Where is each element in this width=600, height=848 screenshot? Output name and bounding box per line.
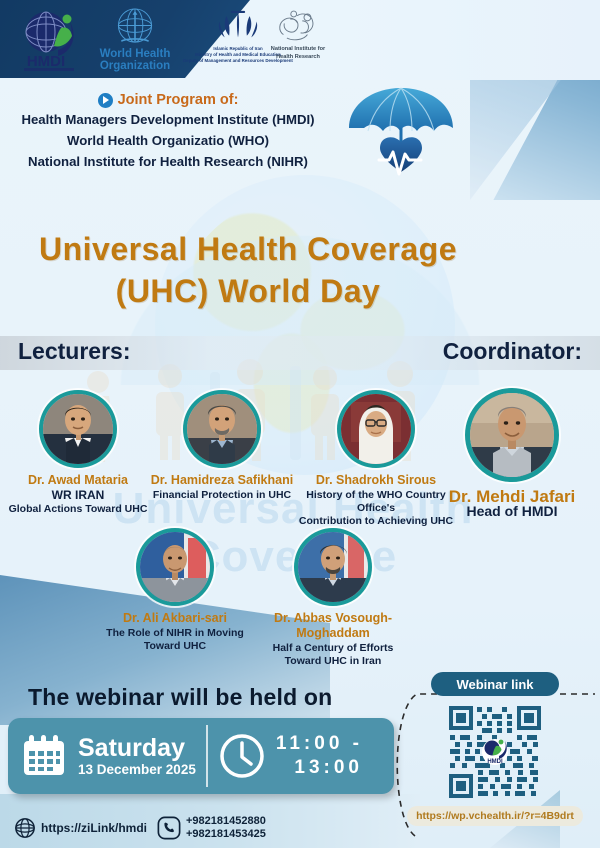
umbrella-heart-icon bbox=[335, 82, 495, 192]
phone-icon bbox=[157, 816, 181, 840]
svg-text:HMDI: HMDI bbox=[27, 53, 65, 70]
lecturers-heading: Lecturers: bbox=[18, 338, 130, 365]
portrait-image bbox=[187, 394, 257, 464]
joint-program-title: Joint Program of: bbox=[118, 92, 239, 108]
avatar bbox=[183, 390, 261, 468]
joint-program-org-2: World Health Organizatio (WHO) bbox=[8, 131, 328, 150]
portrait-image bbox=[140, 532, 210, 602]
joint-program-org-3: National Institute for Health Research (… bbox=[8, 152, 328, 171]
phone-numbers: +982181452880 +982181453425 bbox=[186, 815, 266, 840]
lecturer-topic: The Role of NIHR in Moving Toward UHC bbox=[95, 627, 255, 653]
coordinator-card-mehdi-jafari: Dr. Mehdi Jafari Head of HMDI bbox=[432, 388, 592, 518]
who-logo-text: World Health Organization bbox=[100, 48, 171, 72]
phone-1: +982181452880 bbox=[186, 815, 266, 828]
play-icon bbox=[98, 93, 113, 108]
lecturer-role: WR IRAN bbox=[8, 488, 148, 502]
footer-contacts: https://ziLink/hmdi +982181452880 +98218… bbox=[14, 815, 266, 840]
avatar bbox=[294, 528, 372, 606]
phone-contact[interactable]: +982181452880 +982181453425 bbox=[157, 815, 266, 840]
schedule-date: 13 December 2025 bbox=[78, 761, 196, 778]
portrait-image bbox=[43, 394, 113, 464]
webinar-link-block: Webinar link bbox=[405, 672, 585, 840]
joint-program-block: Joint Program of: Health Managers Develo… bbox=[8, 92, 328, 171]
header-bar: HMDI World Health Organization bbox=[0, 0, 600, 80]
schedule-time-start: 11:00 - bbox=[276, 732, 363, 756]
clock-icon bbox=[218, 732, 266, 780]
globe-icon bbox=[14, 817, 36, 839]
lecturer-card-abbas-vosough-moghaddam: Dr. Abbas Vosough-Moghaddam Half a Centu… bbox=[243, 528, 423, 668]
lecturer-card-hamidreza-safikhani: Dr. Hamidreza Safikhani Financial Protec… bbox=[142, 390, 302, 502]
schedule-day: Saturday bbox=[78, 735, 196, 761]
page-title: Universal Health Coverage (UHC) World Da… bbox=[18, 228, 478, 312]
phone-2: +982181453425 bbox=[186, 828, 266, 841]
portrait-image bbox=[298, 532, 368, 602]
avatar bbox=[337, 390, 415, 468]
calendar-icon bbox=[20, 732, 68, 780]
joint-program-org-1: Health Managers Development Institute (H… bbox=[8, 110, 328, 129]
schedule-time: 11:00 - 13:00 bbox=[276, 732, 363, 780]
who-logo: World Health Organization bbox=[96, 6, 174, 72]
website-contact[interactable]: https://ziLink/hmdi bbox=[14, 817, 147, 839]
lecturer-card-awad-mataria: Dr. Awad Mataria WR IRAN Global Actions … bbox=[8, 390, 148, 516]
nihr-logo-text: National Institute for Health Research bbox=[271, 46, 325, 61]
nihr-emblem-icon bbox=[268, 8, 328, 44]
lecturer-card-ali-akbari-sari: Dr. Ali Akbari-sari The Role of NIHR in … bbox=[95, 528, 255, 653]
lecturer-topic: Global Actions Toward UHC bbox=[8, 503, 148, 516]
webinar-link-badge: Webinar link bbox=[431, 672, 559, 696]
website-url: https://ziLink/hmdi bbox=[41, 821, 147, 835]
coordinator-name: Dr. Mehdi Jafari bbox=[432, 489, 592, 504]
schedule-time-end: 13:00 bbox=[276, 756, 363, 780]
coordinator-role: Head of HMDI bbox=[432, 504, 592, 518]
poster-root: Universal Health Coverage HMDI bbox=[0, 0, 600, 848]
lecturer-topic: Financial Protection in UHC bbox=[142, 489, 302, 502]
portrait-image bbox=[341, 394, 411, 464]
lecturer-topic: Half a Century of Efforts Toward UHC in … bbox=[243, 642, 423, 668]
qr-code-image[interactable]: HMDI bbox=[429, 702, 561, 802]
lecturer-name: Dr. Abbas Vosough-Moghaddam bbox=[243, 611, 423, 641]
avatar bbox=[39, 390, 117, 468]
lecturer-name: Dr. Awad Mataria bbox=[8, 473, 148, 488]
schedule-box: Saturday 13 December 2025 11:00 - 13:00 bbox=[8, 718, 394, 794]
portrait-image bbox=[470, 393, 554, 477]
schedule-heading: The webinar will be held on bbox=[28, 684, 332, 711]
avatar bbox=[465, 388, 559, 482]
joint-program-heading: Joint Program of: bbox=[8, 92, 328, 108]
nihr-logo: National Institute for Health Research bbox=[252, 8, 344, 70]
schedule-divider bbox=[206, 725, 208, 787]
who-emblem-icon bbox=[107, 6, 163, 47]
avatar bbox=[136, 528, 214, 606]
svg-text:HMDI: HMDI bbox=[487, 759, 503, 765]
hmdi-logo-icon: HMDI bbox=[14, 6, 92, 74]
schedule-date-text: Saturday 13 December 2025 bbox=[78, 735, 196, 778]
webinar-url[interactable]: https://wp.vchealth.ir/?r=4B9drt bbox=[407, 806, 583, 826]
coordinator-heading: Coordinator: bbox=[443, 338, 582, 365]
lecturer-name: Dr. Hamidreza Safikhani bbox=[142, 473, 302, 488]
lecturer-name: Dr. Ali Akbari-sari bbox=[95, 611, 255, 626]
